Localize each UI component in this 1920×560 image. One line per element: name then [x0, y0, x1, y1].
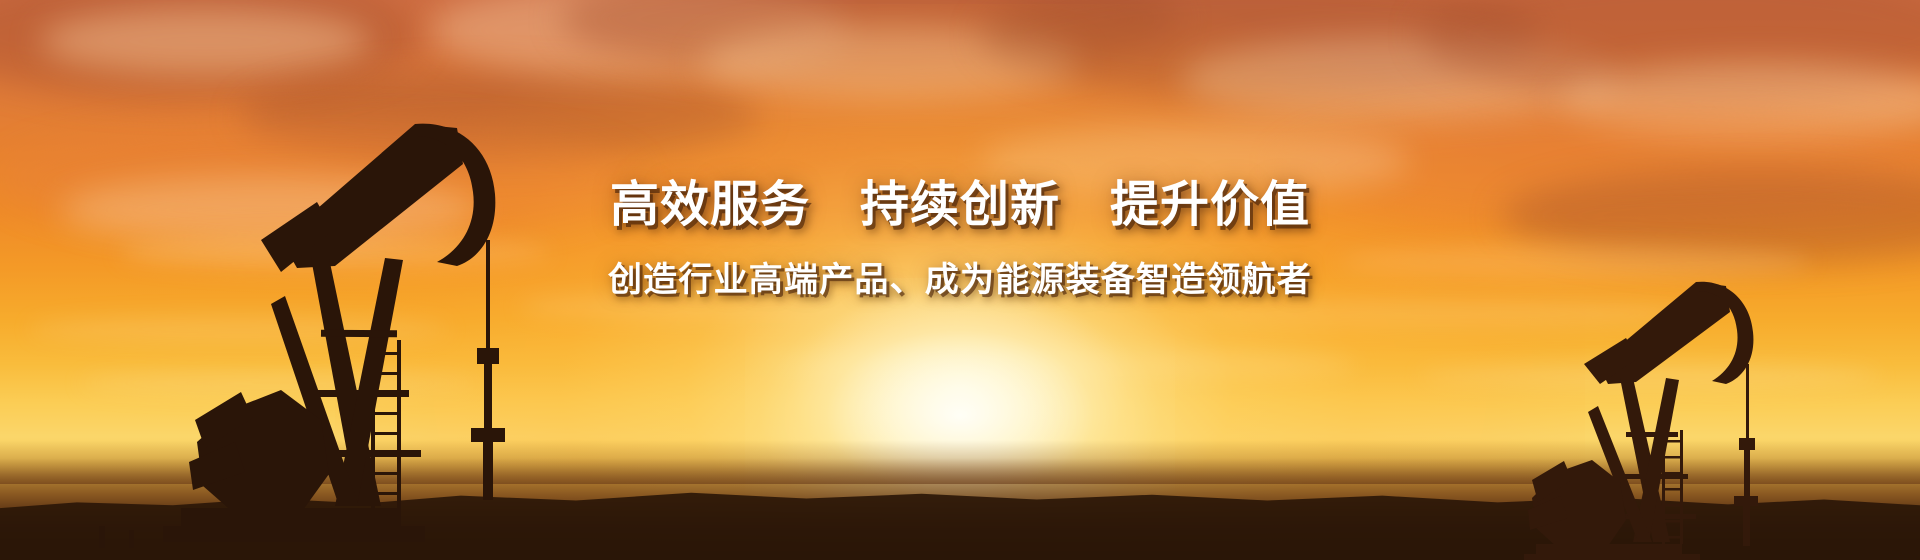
pumpjack-left-silhouette [85, 90, 555, 560]
banner-subheadline: 创造行业高端产品、成为能源装备智造领航者 [0, 260, 1920, 301]
pumpjack-right-silhouette [1480, 260, 1780, 560]
banner-headline: 高效服务 持续创新 提升价值 [0, 178, 1920, 232]
banner-copy: 高效服务 持续创新 提升价值 创造行业高端产品、成为能源装备智造领航者 [0, 178, 1920, 301]
hero-banner: 高效服务 持续创新 提升价值 创造行业高端产品、成为能源装备智造领航者 [0, 0, 1920, 560]
